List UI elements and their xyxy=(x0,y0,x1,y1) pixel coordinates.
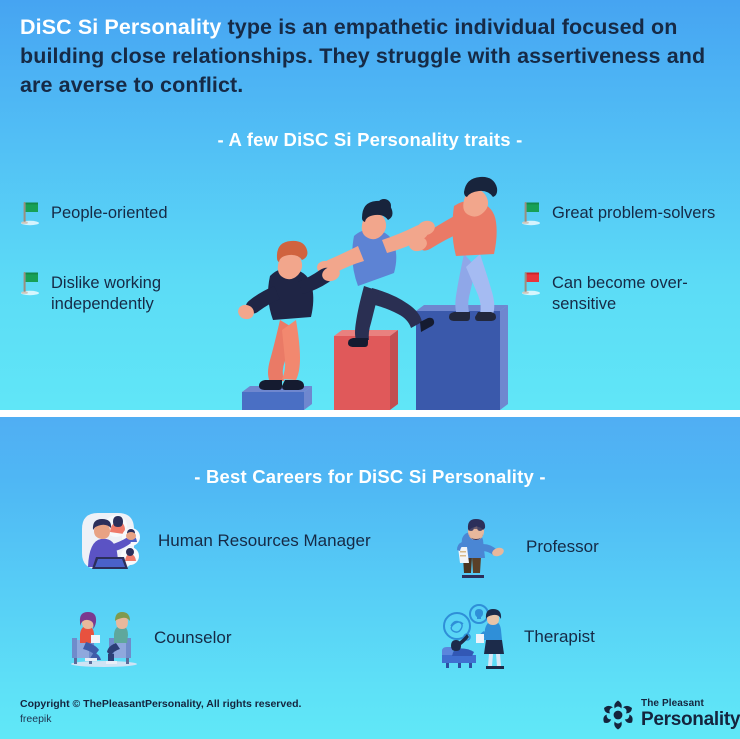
trait-item: Great problem-solvers xyxy=(518,200,733,226)
careers-heading: - Best Careers for DiSC Si Personality - xyxy=(0,466,740,488)
logo-line-1: The Pleasant xyxy=(641,698,704,709)
logo-line-2: Personality xyxy=(641,709,740,731)
pleasant-personality-flower-mark-icon xyxy=(601,699,635,731)
traits-section: DiSC Si Personality type is an empatheti… xyxy=(0,0,740,410)
copyright-line: Copyright © ThePleasantPersonality, All … xyxy=(20,697,301,712)
brand-logo[interactable]: The Pleasant Personality xyxy=(601,695,733,735)
trait-item: Dislike working independently xyxy=(17,270,232,315)
professor-icon xyxy=(440,511,512,583)
infographic-poster: DiSC Si Personality type is an empatheti… xyxy=(0,0,740,739)
career-item-counselor: Counselor xyxy=(68,602,368,674)
counselor-icon xyxy=(68,602,140,674)
therapist-icon xyxy=(438,601,510,673)
trait-item: People-oriented xyxy=(17,200,232,226)
traits-list-left: People-oriented Dislike working independ… xyxy=(17,200,232,359)
trait-label: Dislike working independently xyxy=(41,270,232,315)
career-item-human-resources-manager: Human Resources Manager xyxy=(72,505,372,577)
page-title-highlight: DiSC Si Personality xyxy=(20,15,221,39)
career-label: Therapist xyxy=(510,626,595,648)
attribution-line: freepik xyxy=(20,712,301,727)
career-item-professor: Professor xyxy=(440,511,740,583)
trait-label: People-oriented xyxy=(41,200,168,224)
traits-heading: - A few DiSC Si Personality traits - xyxy=(0,129,740,151)
green-flag-icon xyxy=(17,270,41,296)
section-divider xyxy=(0,410,740,417)
trait-label: Great problem-solvers xyxy=(542,200,715,224)
hr-manager-icon xyxy=(72,505,144,577)
traits-list-right: Great problem-solvers Can become over-se… xyxy=(518,200,733,359)
career-label: Human Resources Manager xyxy=(144,530,371,552)
career-item-therapist: Therapist xyxy=(438,601,738,673)
trait-item: Can become over-sensitive xyxy=(518,270,733,315)
page-title: DiSC Si Personality type is an empatheti… xyxy=(20,13,720,100)
careers-list: Human Resources Manager xyxy=(0,505,740,685)
trait-label: Can become over-sensitive xyxy=(542,270,733,315)
teamwork-climbing-illustration xyxy=(232,170,522,410)
green-flag-icon xyxy=(17,200,41,226)
copyright-text: Copyright © ThePleasantPersonality, All … xyxy=(20,697,301,727)
career-label: Counselor xyxy=(140,627,232,649)
career-label: Professor xyxy=(512,536,599,558)
